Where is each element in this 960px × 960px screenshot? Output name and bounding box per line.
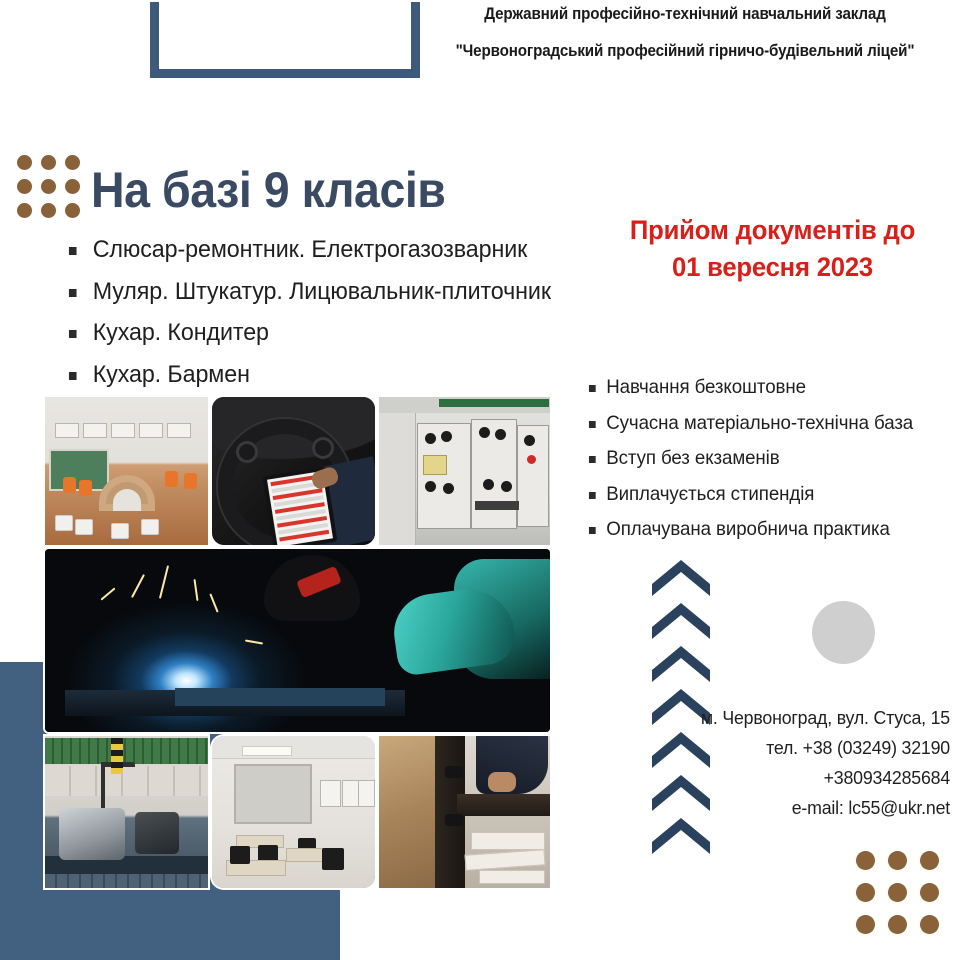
photo-engine-lab [45,736,208,888]
program-label: Слюсар-ремонтник. Електрогазозварник [93,236,528,263]
dot-grid-top-left [17,155,79,217]
dot [17,179,32,194]
dot [41,179,56,194]
contact-address: м. Червоноград, вул. Стуса, 15 [652,703,950,733]
institution-type-line: Державний професійно-технічний навчальни… [441,6,929,23]
dot [65,203,80,218]
dot [856,915,875,934]
square-bullet-icon [69,330,77,338]
program-label: Кухар. Кондитер [93,319,269,346]
deadline-line-1: Прийом документів до [609,212,937,249]
dot [17,155,32,170]
dot [65,155,80,170]
dot [17,203,32,218]
list-item: Виплачується стипендія [588,485,943,505]
list-item: Кухар. Кондитер [68,321,600,346]
chevron-up-icon [650,558,712,598]
dot [920,915,939,934]
list-item: Муляр. Штукатур. Лицювальник-плиточник [68,280,600,305]
dot [920,851,939,870]
square-bullet-icon [589,527,596,534]
institution-name-line: "Червоноградський професійний гірничо-бу… [441,43,929,60]
decorative-circle [812,601,875,664]
photo-masonry-workshop [45,397,208,545]
chevron-up-icon [650,601,712,641]
dot [65,179,80,194]
benefit-label: Виплачується стипендія [606,483,814,505]
benefit-label: Навчання безкоштовне [606,376,806,398]
list-item: Сучасна матеріально-технічна база [588,414,943,434]
contact-phone-primary[interactable]: тел. +38 (03249) 32190 [652,733,950,763]
square-bullet-icon [69,289,77,297]
square-bullet-icon [589,421,596,428]
dot [856,883,875,902]
list-item: Навчання безкоштовне [588,378,943,398]
square-bullet-icon [589,456,596,463]
deadline-line-2: 01 вересня 2023 [609,249,937,286]
photo-collage [45,397,550,922]
square-bullet-icon [589,385,596,392]
list-item: Слюсар-ремонтник. Електрогазозварник [68,238,600,263]
photo-electrical-panels [379,397,550,545]
poster-root: Державний професійно-технічний навчальни… [0,0,960,960]
dot [920,883,939,902]
contact-phone-secondary[interactable]: +380934285684 [652,763,950,793]
list-item: Оплачувана виробнича практика [588,520,943,540]
list-item: Кухар. Бармен [68,363,600,388]
institution-header: Державний професійно-технічний навчальни… [420,6,950,59]
dot [888,883,907,902]
program-label: Кухар. Бармен [93,361,250,388]
benefits-list: Навчання безкоштовне Сучасна матеріально… [588,378,958,556]
square-bullet-icon [69,247,77,255]
decorative-frame [150,0,420,78]
program-list: Слюсар-ремонтник. Електрогазозварник Мул… [68,238,628,404]
dot-grid-bottom-right [856,851,938,933]
photo-welding [45,549,550,732]
benefit-label: Вступ без екзаменів [606,447,779,469]
contact-email[interactable]: e-mail: lc55@ukr.net [652,793,950,823]
benefit-label: Оплачувана виробнича практика [606,518,890,540]
page-title: На базі 9 класів [91,165,445,215]
contact-info: м. Червоноград, вул. Стуса, 15 тел. +38 … [640,703,950,823]
photo-tiling-work [379,736,550,888]
square-bullet-icon [589,492,596,499]
square-bullet-icon [69,372,77,380]
photo-classroom [212,736,375,888]
photo-car-diagnostics [212,397,375,545]
dot [888,915,907,934]
application-deadline: Прийом документів до 01 вересня 2023 [609,212,937,287]
list-item: Вступ без екзаменів [588,449,943,469]
program-label: Муляр. Штукатур. Лицювальник-плиточник [93,278,551,305]
dot [41,155,56,170]
dot [41,203,56,218]
chevron-up-icon [650,644,712,684]
benefit-label: Сучасна матеріально-технічна база [606,412,913,434]
dot [888,851,907,870]
dot [856,851,875,870]
